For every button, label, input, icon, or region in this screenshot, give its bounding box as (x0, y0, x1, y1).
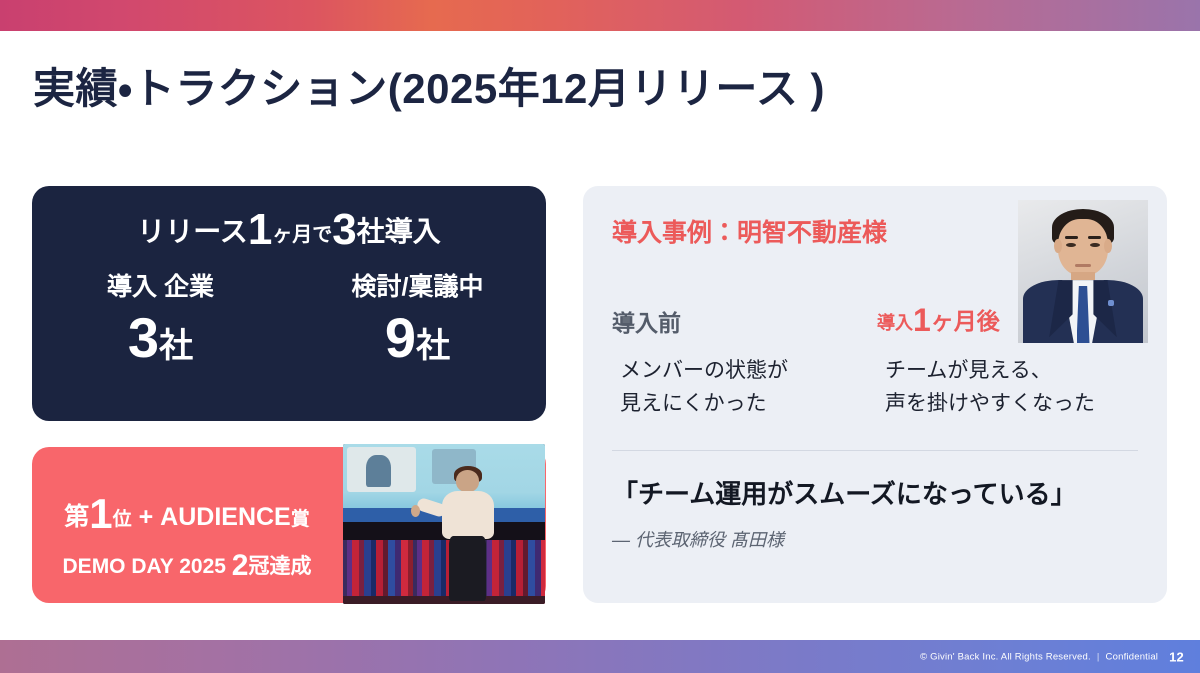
after-label: 導入1ヶ月後 (877, 304, 1000, 336)
client-representative-portrait (1018, 200, 1148, 343)
metric-adopted: 導入 企業 3社 (32, 274, 289, 366)
quote-attribution: — 代表取締役 髙田様 (612, 526, 784, 552)
before-after-columns: メンバーの状態が 見えにくかった チームが見える、 声を掛けやすくなった (612, 354, 1152, 420)
before-label: 導入前 (612, 304, 681, 338)
footer-confidential: Confidential (1106, 651, 1159, 662)
metric-considering-value: 9社 (289, 310, 546, 366)
metrics-row: 導入 企業 3社 検討/稟議中 9社 (32, 274, 546, 366)
award-crown-suffix: 冠達成 (248, 555, 311, 578)
before-text-column: メンバーの状態が 見えにくかった (612, 354, 877, 420)
metric-adopted-unit: 社 (159, 327, 193, 365)
metrics-headline-num1: 1 (248, 205, 272, 254)
metric-considering-label: 検討/稟議中 (289, 274, 546, 302)
case-study-panel: 導入事例：明智不動産様 導入前 導入1ヶ月後 (583, 186, 1167, 603)
metric-considering-number: 9 (385, 306, 416, 369)
award-plus-sign: + (139, 503, 154, 531)
presenter-head (456, 470, 479, 492)
stage-presentation-photo (343, 444, 545, 604)
photo-presenter (438, 470, 499, 601)
award-rank-suffix: 位 (113, 509, 132, 530)
metric-adopted-number: 3 (128, 306, 159, 369)
photo-slide-thumbnail-left (347, 447, 416, 492)
before-after-labels: 導入前 導入1ヶ月後 (612, 304, 1032, 338)
metrics-headline-num2: 3 (332, 205, 356, 254)
metrics-card: リリース1ヶ月で3社導入 導入 企業 3社 検討/稟議中 9社 (32, 186, 546, 421)
before-line-2: 見えにくかった (612, 387, 877, 420)
footer-separator: | (1097, 651, 1100, 662)
metric-adopted-value: 3社 (32, 310, 289, 366)
portrait-eyebrow-right (1088, 236, 1101, 240)
award-crown-count: 2 (232, 549, 249, 582)
after-text-column: チームが見える、 声を掛けやすくなった (877, 354, 1142, 420)
portrait-lapel-pin (1108, 300, 1115, 306)
case-study-title: 導入事例：明智不動産様 (612, 213, 887, 249)
metric-adopted-label: 導入 企業 (32, 274, 289, 302)
footer-text: © Givin' Back Inc. All Rights Reserved. … (920, 649, 1184, 664)
presenter-torso (442, 491, 494, 540)
award-line-2: DEMO DAY 2025 2冠達成 (32, 551, 342, 581)
portrait-face (1058, 219, 1107, 276)
slide-root: 実績・トラクション(2025年12月リリース ) リリース1ヶ月で3社導入 導入… (0, 0, 1200, 673)
footer-gradient-bar: © Givin' Back Inc. All Rights Reserved. … (0, 640, 1200, 673)
before-line-1: メンバーの状態が (612, 354, 877, 387)
metric-considering: 検討/稟議中 9社 (289, 274, 546, 366)
after-label-suffix: ヶ月後 (931, 308, 1000, 334)
metrics-headline-post: 社導入 (357, 216, 441, 247)
award-event-name: DEMO DAY 2025 (63, 555, 226, 578)
metrics-headline-mid: ヶ月で (272, 224, 332, 246)
award-rank-prefix: 第 (64, 503, 89, 531)
portrait-mouth (1075, 264, 1091, 267)
customer-quote: 「チーム運用がスムーズになっている」 (612, 474, 1077, 511)
top-gradient-bar (0, 0, 1200, 31)
footer-copyright: © Givin' Back Inc. All Rights Reserved. (920, 651, 1091, 662)
award-rank-number: 1 (89, 490, 112, 537)
after-line-1: チームが見える、 (877, 354, 1142, 387)
award-line-1: 第1位 + AUDIENCE賞 (32, 493, 342, 535)
award-audience-label: AUDIENCE (160, 503, 291, 531)
page-title: 実績・トラクション(2025年12月リリース ) (33, 55, 825, 116)
after-label-number: 1 (913, 302, 931, 338)
presenter-legs (449, 536, 487, 600)
portrait-ear-right (1104, 239, 1112, 253)
award-prize-suffix: 賞 (291, 509, 310, 530)
after-line-2: 声を掛けやすくなった (877, 387, 1142, 420)
portrait-eyebrow-left (1065, 236, 1078, 240)
metrics-headline-pre: リリース (137, 216, 248, 247)
after-label-prefix: 導入 (877, 313, 913, 333)
panel-divider (612, 450, 1138, 451)
metrics-headline: リリース1ヶ月で3社導入 (32, 208, 546, 252)
metric-considering-unit: 社 (416, 327, 450, 365)
footer-page-number: 12 (1169, 649, 1184, 664)
